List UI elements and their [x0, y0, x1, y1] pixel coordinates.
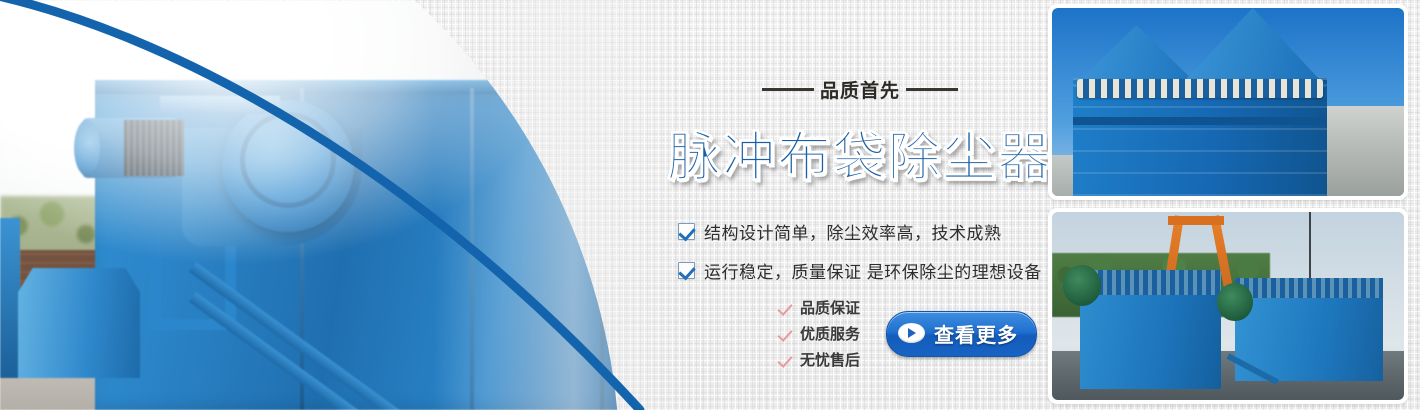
banner-subtitle: 品质首先	[820, 76, 900, 103]
photo-steel-post	[0, 218, 20, 378]
photo-collector-top-rail	[95, 80, 655, 94]
photo-body-seam	[600, 88, 604, 410]
feature-item: 运行稳定，质量保证 是环保除尘的理想设备	[678, 258, 1060, 283]
thumb2-fan-left	[1063, 265, 1102, 306]
baghouse-peaked-roof-photo	[1052, 8, 1404, 196]
tag-item: 品质保证	[780, 297, 860, 318]
checkbox-checked-icon	[678, 262, 695, 279]
photo-fan-ring	[240, 112, 336, 208]
check-mark-icon	[780, 300, 793, 316]
feature-list: 结构设计简单，除尘效率高，技术成熟 运行稳定，质量保证 是环保除尘的理想设备	[660, 219, 1060, 283]
banner-title: 脉冲布袋除尘器	[660, 115, 1060, 191]
view-more-button[interactable]: 查看更多	[886, 311, 1037, 357]
subtitle-rule-right	[906, 88, 958, 91]
tag-label: 品质保证	[800, 297, 860, 318]
dust-collector-site-crane-photo	[1052, 212, 1404, 400]
subtitle-row: 品质首先	[660, 76, 1060, 103]
hero-photo-clip	[0, 0, 700, 410]
banner-content: 品质首先 脉冲布袋除尘器 结构设计简单，除尘效率高，技术成熟 运行稳定，质量保证…	[660, 0, 1060, 410]
thumb1-ledge	[1073, 117, 1326, 125]
tag-label: 优质服务	[800, 323, 860, 344]
feature-label: 运行稳定，质量保证 是环保除尘的理想设备	[704, 258, 1042, 283]
tag-list: 品质保证 优质服务 无忧售后	[780, 297, 860, 370]
photo-motor-fins	[124, 120, 184, 176]
thumb2-valve-row-right	[1235, 278, 1383, 299]
pulse-bag-dust-collector-blower-photo	[0, 0, 700, 410]
tag-label: 无忧售后	[800, 349, 860, 370]
thumb2-valve-row-left	[1080, 270, 1221, 294]
photo-motor-end-cap	[74, 120, 100, 176]
photo-body-seam	[470, 88, 474, 410]
photo-hopper	[18, 268, 140, 378]
subtitle-rule-left	[762, 88, 814, 91]
bottom-row: 品质保证 优质服务 无忧售后 查看更多	[660, 297, 1060, 370]
thumbnail-column	[1048, 0, 1420, 410]
check-mark-icon	[780, 352, 793, 368]
photo-duct	[160, 96, 280, 114]
hero-photo-region	[0, 0, 700, 410]
feature-item: 结构设计简单，除尘效率高，技术成熟	[678, 219, 1060, 244]
play-arrow-circle-icon	[898, 323, 925, 343]
tag-item: 无忧售后	[780, 349, 860, 370]
thumb2-crane-top	[1168, 216, 1224, 225]
thumb1-pulse-valves	[1077, 79, 1323, 98]
thumbnail-bottom[interactable]	[1048, 208, 1408, 404]
checkbox-checked-icon	[678, 223, 695, 240]
check-mark-icon	[780, 326, 793, 342]
feature-label: 结构设计简单，除尘效率高，技术成熟	[704, 219, 1002, 244]
promo-banner: 品质首先 脉冲布袋除尘器 结构设计简单，除尘效率高，技术成熟 运行稳定，质量保证…	[0, 0, 1420, 410]
view-more-label: 查看更多	[934, 319, 1018, 348]
thumbnail-top[interactable]	[1048, 4, 1408, 200]
tag-item: 优质服务	[780, 323, 860, 344]
thumb2-fan-right	[1217, 283, 1252, 321]
